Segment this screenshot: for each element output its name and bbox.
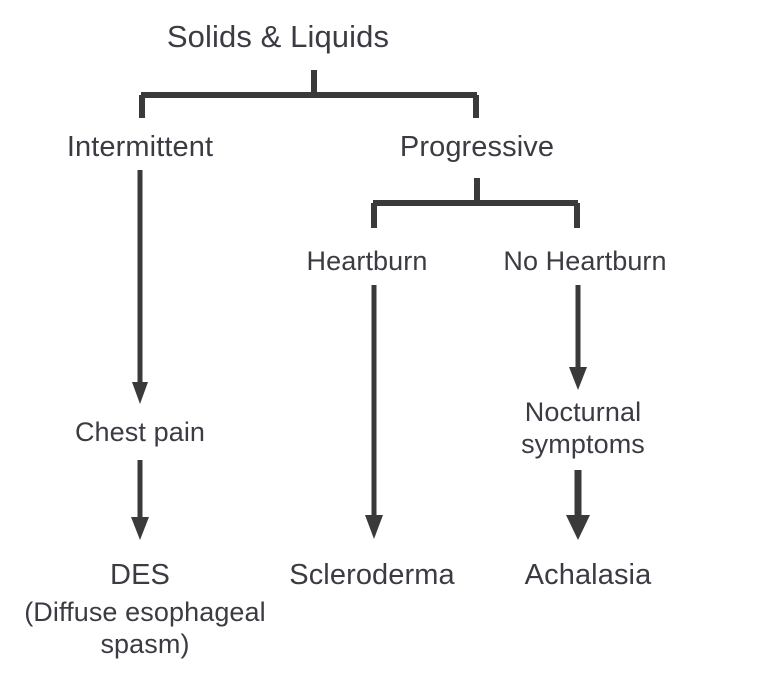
node-progressive: Progressive — [377, 130, 577, 165]
arrow-no-heartburn-to-nocturnal — [569, 285, 587, 390]
node-des-expanded: (Diffuse esophageal spasm) — [0, 596, 290, 661]
arrow-nocturnal-to-achalasia — [566, 470, 590, 540]
node-des: DES — [40, 558, 240, 593]
node-solids-and-liquids: Solids & Liquids — [118, 18, 438, 55]
node-achalasia: Achalasia — [488, 558, 688, 593]
flowchart-diagram: Solids & Liquids Intermittent Progressiv… — [0, 0, 768, 699]
node-chest-pain: Chest pain — [40, 416, 240, 448]
node-no-heartburn: No Heartburn — [485, 245, 685, 277]
node-heartburn: Heartburn — [272, 245, 462, 277]
node-intermittent: Intermittent — [40, 130, 240, 165]
arrow-heartburn-to-scleroderma — [365, 285, 383, 539]
bracket-progressive-split — [373, 178, 578, 228]
arrow-intermittent-to-chest-pain — [132, 170, 148, 404]
node-nocturnal-symptoms: Nocturnal symptoms — [488, 396, 678, 461]
bracket-root-split — [141, 70, 477, 118]
arrow-chest-pain-to-des — [131, 460, 149, 540]
connector-layer — [0, 0, 768, 699]
node-scleroderma: Scleroderma — [272, 558, 472, 593]
